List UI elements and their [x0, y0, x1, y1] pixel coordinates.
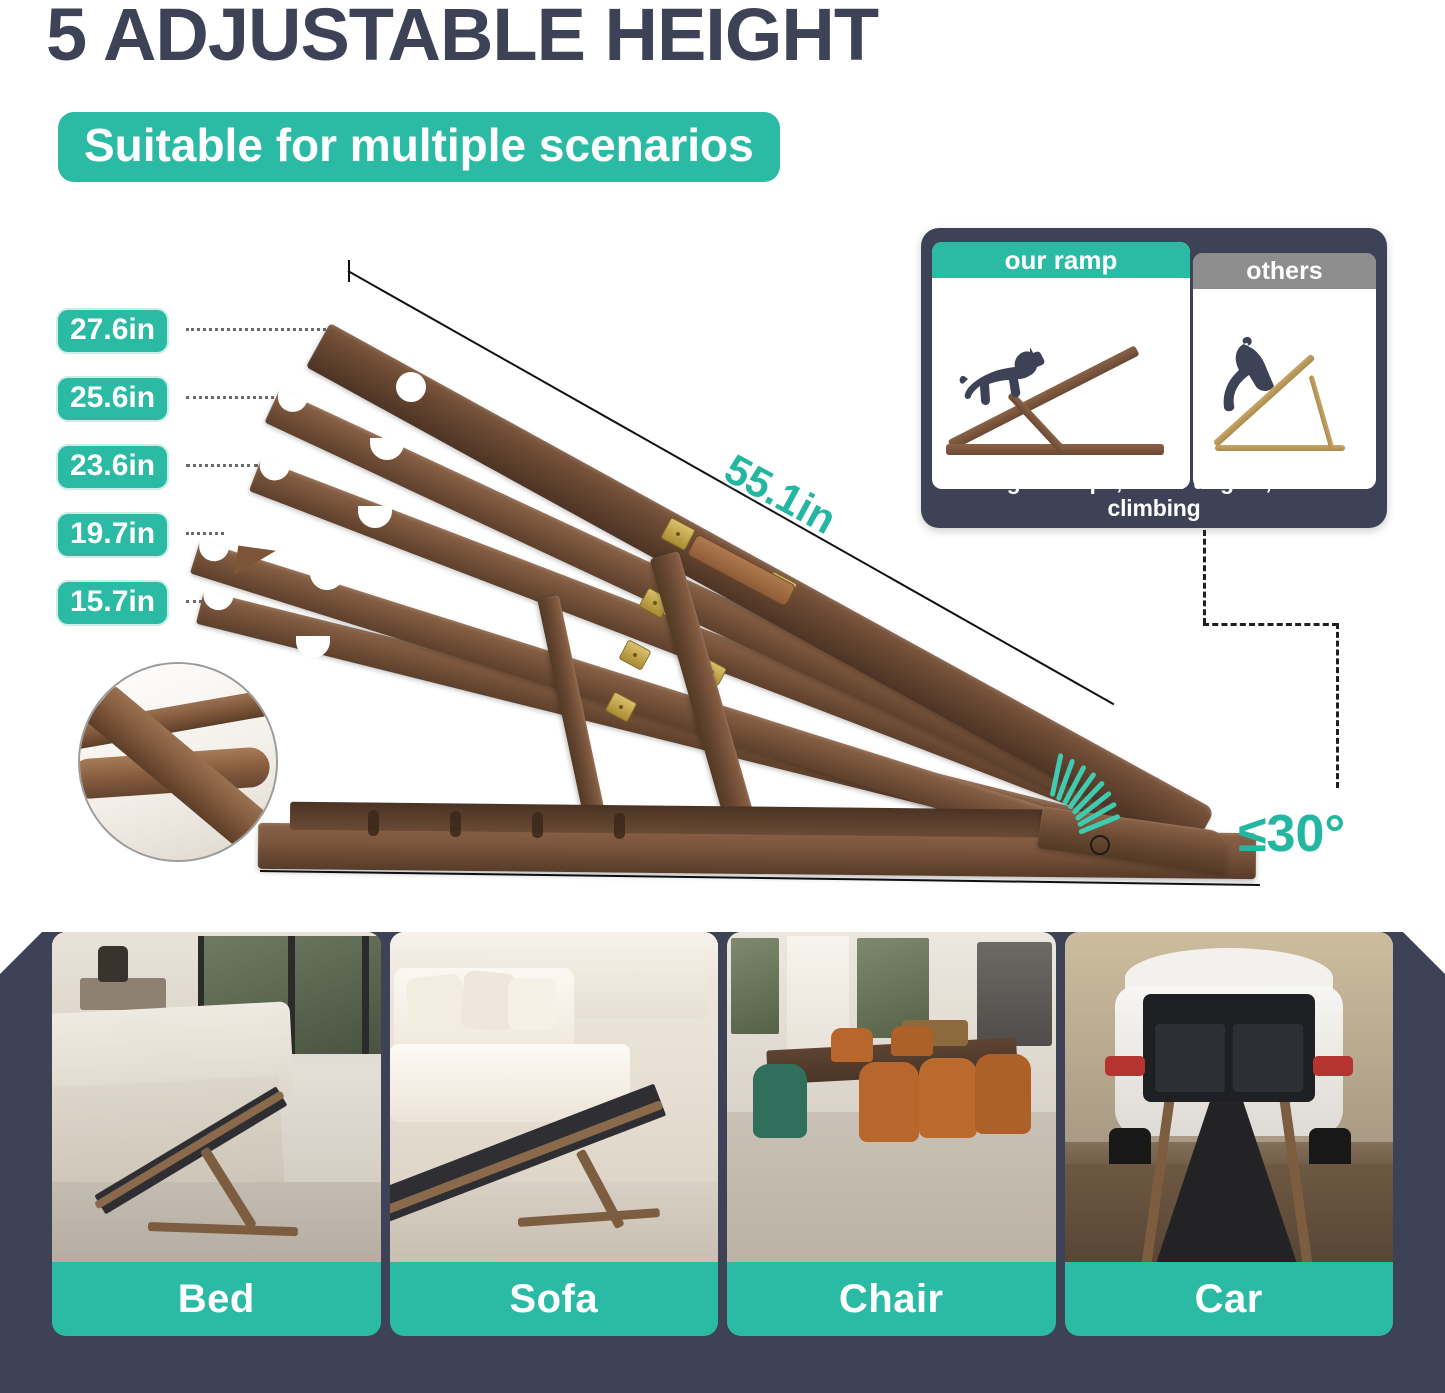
connector-segment-horizontal: [1203, 623, 1338, 626]
car-taillight-left: [1105, 1056, 1145, 1076]
scenarios-grid: Bed Sofa: [0, 932, 1445, 1393]
comparison-ours-stage: [932, 278, 1190, 489]
scenario-card-chair[interactable]: Chair: [727, 932, 1056, 1393]
chair-orange-far-2: [891, 1026, 933, 1056]
chair-orange-3: [975, 1054, 1031, 1134]
comparison-ours-header: our ramp: [932, 242, 1190, 278]
connector-segment-vertical-bottom: [1336, 623, 1339, 788]
height-label-25: 25.6in: [58, 378, 167, 420]
base-slot-4: [614, 813, 625, 839]
car-taillight-right: [1313, 1056, 1353, 1076]
scenario-label-bed: Bed: [52, 1262, 381, 1336]
ramp-angle-label: ≤30°: [1238, 808, 1345, 860]
detail-zoom-inset: [78, 662, 278, 862]
scenario-label-car: Car: [1065, 1262, 1394, 1336]
scenario-photo-sofa: [390, 932, 719, 1262]
car-seat-back-right: [1233, 1024, 1303, 1092]
comparison-others-column: others: [1193, 253, 1376, 489]
base-slot-2: [450, 811, 461, 837]
others-ramp-base: [1215, 445, 1345, 451]
scenario-photo-chair: [727, 932, 1056, 1262]
bed-window-frame-3: [362, 936, 369, 1054]
chair-orange-far-1: [831, 1028, 873, 1062]
scenario-label-sofa: Sofa: [390, 1262, 719, 1336]
others-ramp-strut: [1309, 375, 1335, 449]
height-label-19: 19.7in: [58, 514, 167, 556]
chair-green: [753, 1064, 807, 1138]
height-label-15: 15.7in: [58, 582, 167, 624]
ours-dog-silhouette: [958, 346, 1054, 428]
detail-inset-pointer: [234, 546, 276, 581]
sofa-pillow-1: [405, 973, 467, 1035]
pivot-point: [1090, 835, 1110, 855]
ramp-length-label: 55.1in: [717, 445, 845, 544]
car-seat-back-left: [1155, 1024, 1225, 1092]
bed-lamp: [98, 946, 128, 982]
comparison-caption: Longer ramps, lower angles, easier climb…: [921, 468, 1387, 522]
chair-window-left: [731, 938, 779, 1034]
chair-orange-2: [919, 1058, 977, 1138]
base-slot-1: [368, 810, 379, 836]
comparison-ours-column: our ramp: [932, 242, 1190, 489]
scenario-photo-car: [1065, 932, 1394, 1262]
others-dog-silhouette: [1217, 335, 1297, 425]
scenario-card-sofa[interactable]: Sofa: [390, 932, 719, 1393]
height-leader-23: [186, 464, 258, 467]
scenario-label-chair: Chair: [727, 1262, 1056, 1336]
comparison-others-stage: [1193, 289, 1376, 489]
scenario-photo-bed: [52, 932, 381, 1262]
sofa-pillow-3: [508, 978, 556, 1030]
subtitle-banner: Suitable for multiple scenarios: [58, 112, 780, 182]
comparison-card: others our ramp Longer ramps, lower angl…: [921, 228, 1387, 528]
page-title: 5 ADJUSTABLE HEIGHT: [46, 0, 878, 72]
height-label-27: 27.6in: [58, 310, 167, 352]
height-leader-27: [186, 328, 326, 331]
scenario-card-bed[interactable]: Bed: [52, 932, 381, 1393]
subtitle-text: Suitable for multiple scenarios: [84, 119, 754, 171]
chair-hutch: [977, 942, 1052, 1046]
bed-nightstand: [80, 978, 166, 1010]
height-leader-19: [186, 532, 224, 535]
height-leader-25: [186, 396, 281, 399]
connector-segment-vertical-top: [1203, 530, 1206, 624]
scenario-card-car[interactable]: Car: [1065, 932, 1394, 1393]
comparison-others-header: others: [1193, 253, 1376, 289]
chair-orange-1: [859, 1062, 919, 1142]
height-label-23: 23.6in: [58, 446, 167, 488]
base-slot-3: [532, 812, 543, 838]
